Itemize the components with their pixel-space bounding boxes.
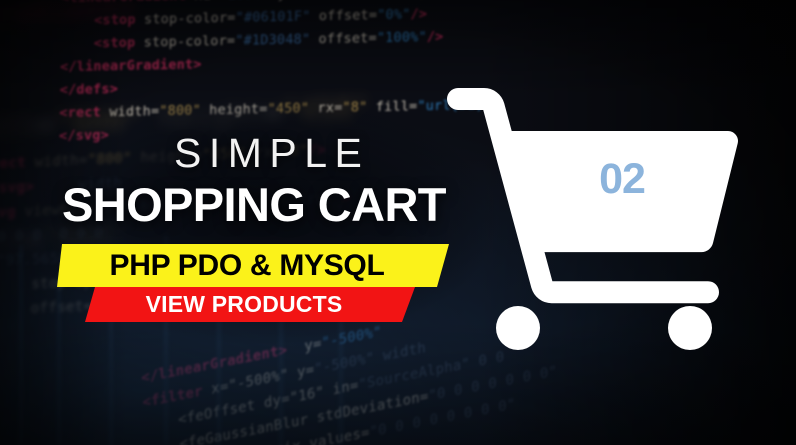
banner-tech-stack-label: PHP PDO & MYSQL: [57, 249, 437, 282]
video-thumbnail: </linearGradient> </defs> <rect width="8…: [0, 0, 796, 445]
title-block: SIMPLE SHOPPING CART PHP PDO & MYSQL VIE…: [0, 0, 470, 445]
headline-simple: SIMPLE: [174, 131, 369, 175]
shopping-cart-graphic: 02: [440, 85, 740, 360]
banner-episode-topic: VIEW PRODUCTS: [85, 287, 415, 322]
banner-episode-topic-label: VIEW PRODUCTS: [85, 291, 403, 318]
cart-wheel-right: [668, 306, 712, 350]
banner-tech-stack: PHP PDO & MYSQL: [57, 244, 449, 287]
headline-shopping-cart: SHOPPING CART: [62, 178, 446, 232]
episode-number-badge: 02: [567, 157, 677, 202]
shopping-cart-icon: [440, 85, 740, 360]
cart-wheel-left: [496, 306, 540, 350]
